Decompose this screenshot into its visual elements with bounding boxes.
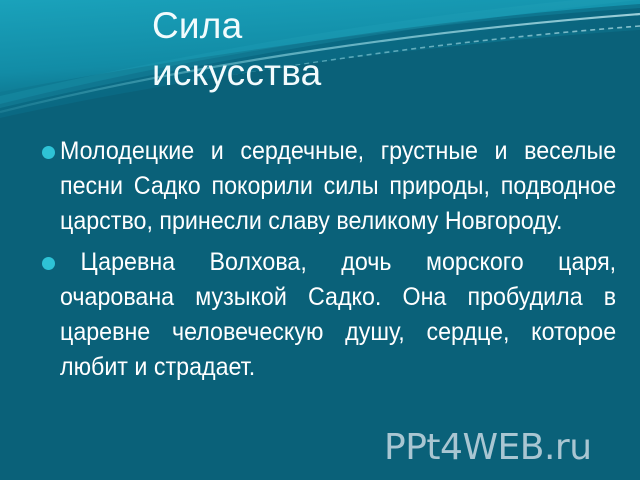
list-item: Молодецкие и сердечные, грустные и весел…	[30, 134, 610, 239]
title-line-1: Сила	[152, 2, 552, 49]
watermark-logo: PPt4WEB.ru	[384, 428, 592, 468]
bullet-dot-icon	[42, 257, 55, 270]
bullet-dot-icon	[42, 146, 55, 159]
presentation-slide: Сила искусства Молодецкие и сердечные, г…	[0, 0, 640, 480]
bullet-text-1: Молодецкие и сердечные, грустные и весел…	[60, 134, 616, 239]
bullet-text-2: Царевна Волхова, дочь морского царя, оча…	[60, 245, 616, 385]
list-item: Царевна Волхова, дочь морского царя, оча…	[30, 245, 610, 385]
body-content: Молодецкие и сердечные, грустные и весел…	[30, 134, 610, 391]
page-title: Сила искусства	[152, 2, 552, 96]
title-line-2: искусства	[152, 49, 552, 96]
